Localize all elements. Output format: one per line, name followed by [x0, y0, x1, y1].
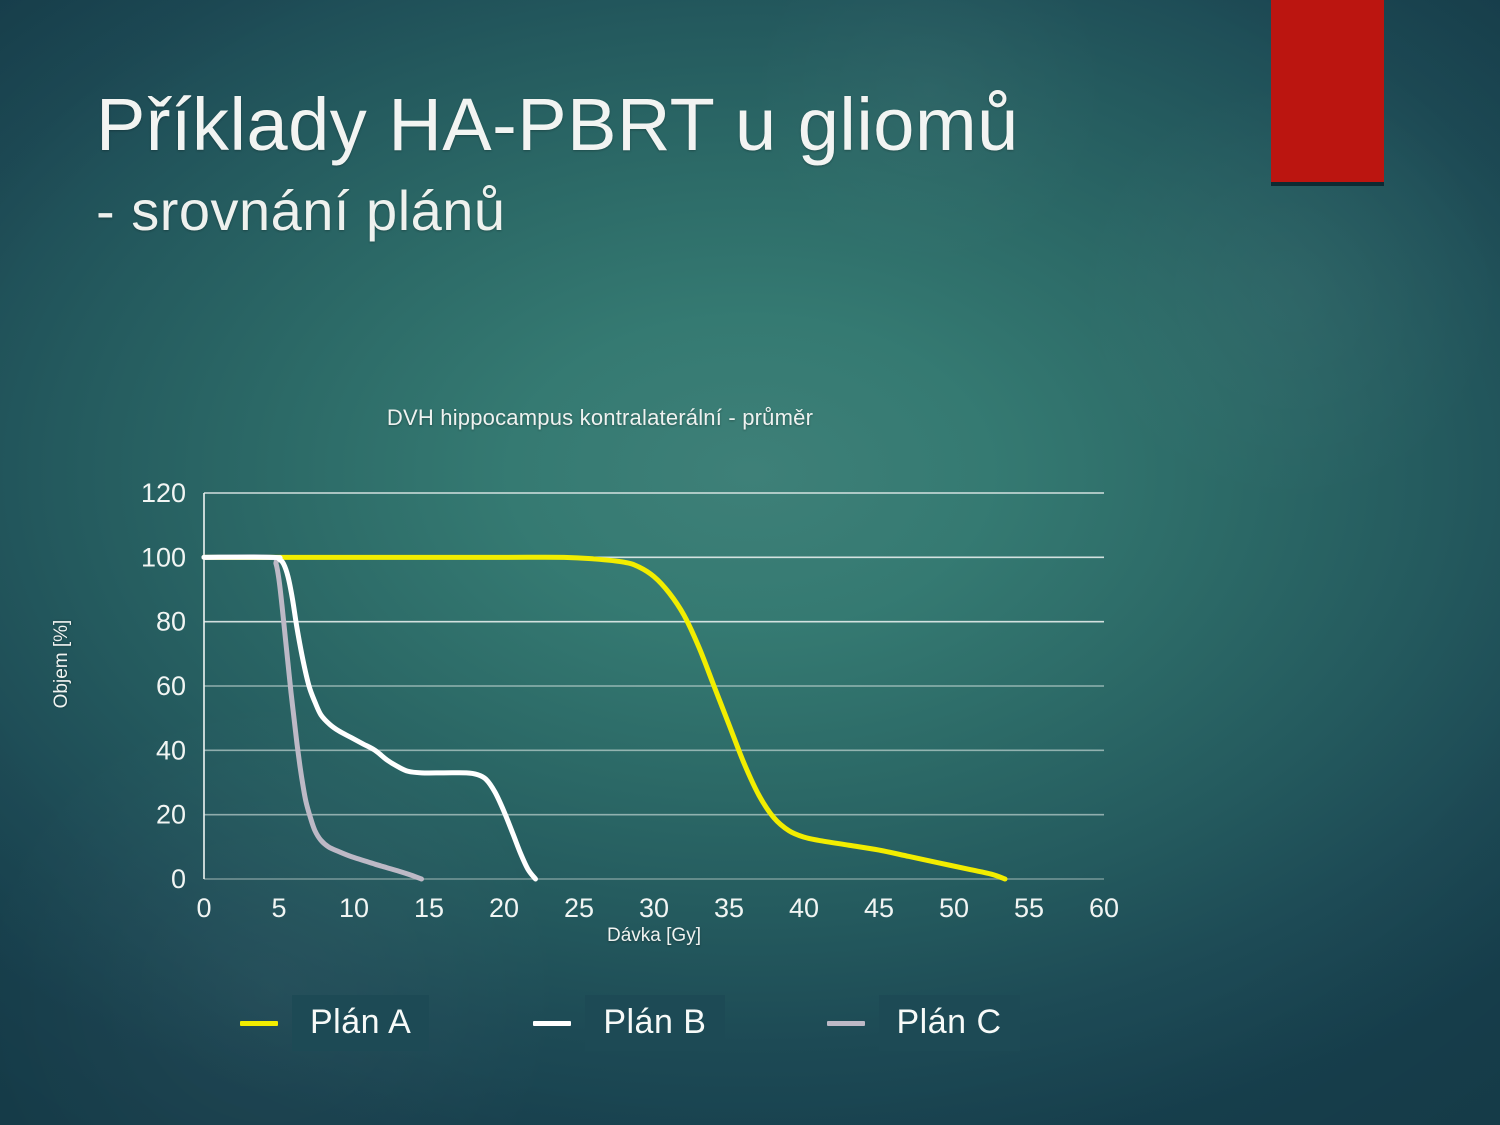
x-tick-label: 45: [864, 893, 894, 923]
accent-bar-decoration: [1271, 0, 1384, 182]
y-tick-label: 60: [156, 671, 186, 701]
x-tick-label: 25: [564, 893, 594, 923]
x-tick-label: 40: [789, 893, 819, 923]
x-tick-label: 0: [196, 893, 211, 923]
slide-canvas: Příklady HA-PBRT u gliomů - srovnání plá…: [0, 0, 1500, 1125]
y-tick-label: 80: [156, 607, 186, 637]
x-tick-label: 30: [639, 893, 669, 923]
legend-label-plan-b: Plán B: [585, 995, 724, 1051]
x-tick-label: 20: [489, 893, 519, 923]
plot-svg: 020406080100120051015202530354045505560: [0, 385, 1200, 1005]
legend-item-plan-a[interactable]: Plán A: [240, 995, 429, 1051]
x-tick-label: 10: [339, 893, 369, 923]
legend-label-plan-c: Plán C: [879, 995, 1020, 1051]
x-tick-label: 35: [714, 893, 744, 923]
x-tick-label: 50: [939, 893, 969, 923]
legend-label-plan-a: Plán A: [292, 995, 429, 1051]
legend-item-plan-c[interactable]: Plán C: [827, 995, 1020, 1051]
y-tick-label: 120: [141, 478, 186, 508]
title-block: Příklady HA-PBRT u gliomů - srovnání plá…: [96, 82, 1256, 248]
series-line-pl-n-c: [204, 557, 422, 879]
dvh-chart: DVH hippocampus kontralaterální - průměr…: [0, 385, 1200, 1075]
y-tick-label: 100: [141, 542, 186, 572]
x-tick-label: 55: [1014, 893, 1044, 923]
page-title: Příklady HA-PBRT u gliomů: [96, 82, 1256, 168]
y-tick-label: 40: [156, 735, 186, 765]
y-tick-label: 20: [156, 800, 186, 830]
y-tick-label: 0: [171, 864, 186, 894]
x-tick-label: 5: [271, 893, 286, 923]
legend-swatch-plan-b: [533, 1021, 571, 1026]
plot-canvas: 020406080100120051015202530354045505560: [0, 385, 1200, 1005]
legend-swatch-plan-c: [827, 1021, 865, 1026]
page-subtitle: - srovnání plánů: [96, 174, 1256, 248]
legend-swatch-plan-a: [240, 1021, 278, 1026]
series-line-pl-n-b: [204, 557, 536, 879]
x-tick-label: 60: [1089, 893, 1119, 923]
chart-legend: Plán A Plán B Plán C: [230, 995, 1090, 1051]
legend-item-plan-b[interactable]: Plán B: [533, 995, 724, 1051]
x-tick-label: 15: [414, 893, 444, 923]
